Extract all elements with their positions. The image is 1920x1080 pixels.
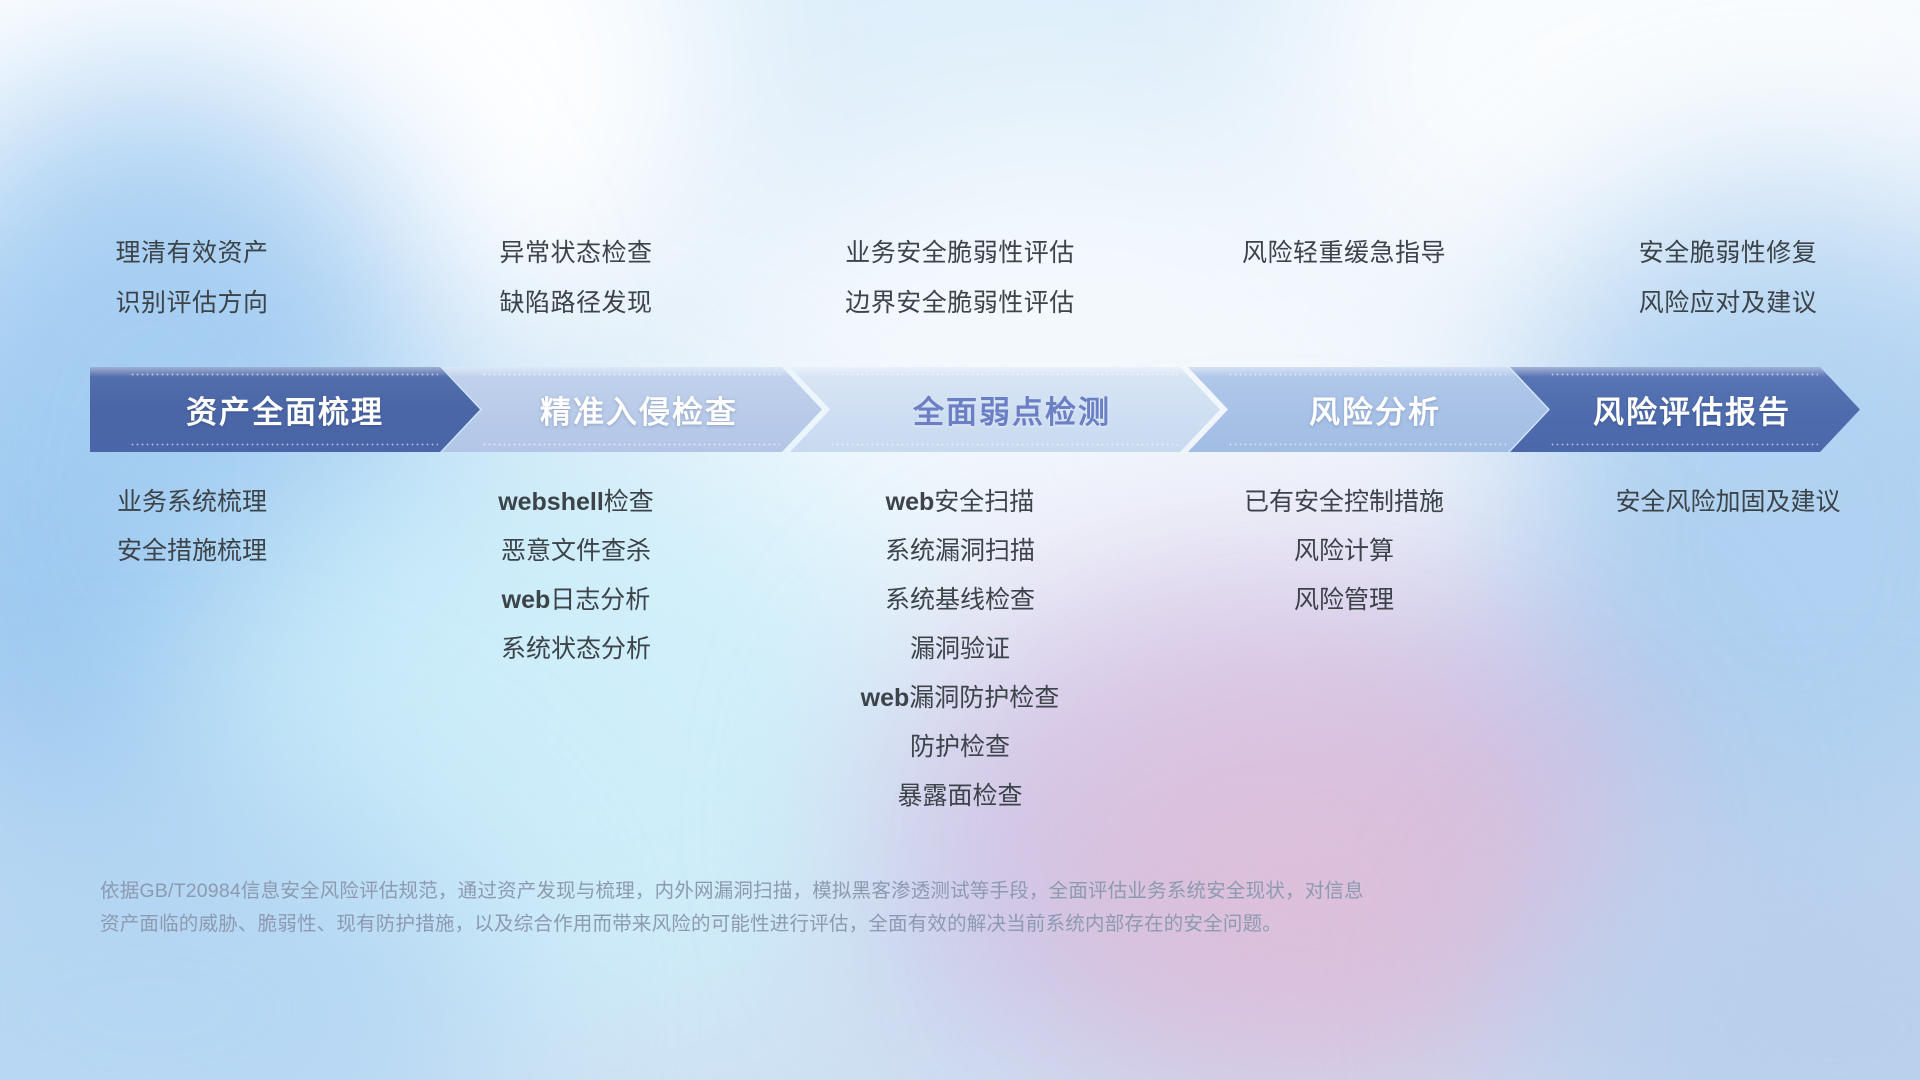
top-notes-stage-1: 理清有效资产 识别评估方向 <box>0 228 384 328</box>
process-stage-4[interactable]: 风险分析 <box>1188 367 1548 452</box>
top-note: 边界安全脆弱性评估 <box>778 278 1142 328</box>
chevron-dot-texture <box>1550 442 1818 447</box>
chevron-gloss <box>790 367 1220 377</box>
list-item: web安全扫描 <box>776 478 1144 527</box>
list-item: web漏洞防护检查 <box>776 674 1144 723</box>
process-arrow-band: 资产全面梳理 精准入侵检查 全面弱点检测 风险分析 <box>90 367 1860 452</box>
top-notes-stage-2: 异常状态检查 缺陷路径发现 <box>384 228 768 328</box>
top-notes-stage-5: 安全脆弱性修复 风险应对及建议 <box>1536 228 1920 328</box>
chevron-gloss <box>1510 367 1860 377</box>
top-notes-stage-4: 风险轻重缓急指导 <box>1152 228 1536 328</box>
process-stage-5[interactable]: 风险评估报告 <box>1510 367 1860 452</box>
detail-lists-row: 业务系统梳理 安全措施梳理 webshell检查 恶意文件查杀 web日志分析 … <box>0 478 1920 821</box>
detail-list-stage-2: webshell检查 恶意文件查杀 web日志分析 系统状态分析 <box>384 478 768 674</box>
list-item: 防护检查 <box>776 723 1144 772</box>
list-item: 漏洞验证 <box>776 625 1144 674</box>
process-stage-label: 全面弱点检测 <box>790 387 1220 432</box>
latin-run: web <box>861 684 910 712</box>
chevron-gloss <box>1188 367 1548 377</box>
detail-list-stage-4: 已有安全控制措施 风险计算 风险管理 <box>1152 478 1536 625</box>
detail-list-stage-5: 安全风险加固及建议 <box>1536 478 1920 527</box>
chevron-dot-texture <box>1550 372 1818 377</box>
latin-run: web <box>886 488 935 516</box>
list-item: 系统状态分析 <box>392 625 760 674</box>
footer-line: 依据GB/T20984信息安全风险评估规范，通过资产发现与梳理，内外网漏洞扫描，… <box>100 875 1610 908</box>
latin-run: webshell <box>498 488 604 516</box>
chevron-dot-texture <box>130 372 438 377</box>
list-item: webshell检查 <box>392 478 760 527</box>
top-notes-row: 理清有效资产 识别评估方向 异常状态检查 缺陷路径发现 业务安全脆弱性评估 边界… <box>0 228 1920 328</box>
footer-line: 资产面临的威胁、脆弱性、现有防护措施，以及综合作用而带来风险的可能性进行评估，全… <box>100 908 1610 941</box>
top-note: 理清有效资产 <box>10 228 374 278</box>
top-note: 业务安全脆弱性评估 <box>778 228 1142 278</box>
top-notes-stage-3: 业务安全脆弱性评估 边界安全脆弱性评估 <box>768 228 1152 328</box>
list-item: 风险管理 <box>1160 576 1528 625</box>
process-stage-label: 风险评估报告 <box>1510 387 1860 432</box>
chevron-dot-texture <box>130 442 438 447</box>
list-item: 系统漏洞扫描 <box>776 527 1144 576</box>
top-note: 安全脆弱性修复 <box>1546 228 1910 278</box>
process-stage-label: 精准入侵检查 <box>442 387 822 432</box>
list-item: web日志分析 <box>392 576 760 625</box>
latin-run: web <box>502 586 551 614</box>
detail-list-stage-3: web安全扫描 系统漏洞扫描 系统基线检查 漏洞验证 web漏洞防护检查 防护检… <box>768 478 1152 821</box>
top-note: 异常状态检查 <box>394 228 758 278</box>
top-note: 风险应对及建议 <box>1546 278 1910 328</box>
detail-list-stage-1: 业务系统梳理 安全措施梳理 <box>0 478 384 576</box>
chevron-gloss <box>442 367 822 377</box>
list-item: 安全措施梳理 <box>8 527 376 576</box>
list-item: 安全风险加固及建议 <box>1544 478 1912 527</box>
chevron-dot-texture <box>482 442 780 447</box>
chevron-dot-texture <box>830 442 1178 447</box>
list-item: 暴露面检查 <box>776 772 1144 821</box>
list-item: 系统基线检查 <box>776 576 1144 625</box>
footer-description: 依据GB/T20984信息安全风险评估规范，通过资产发现与梳理，内外网漏洞扫描，… <box>100 875 1610 941</box>
list-item: 业务系统梳理 <box>8 478 376 527</box>
process-stage-1[interactable]: 资产全面梳理 <box>90 367 480 452</box>
list-item: 恶意文件查杀 <box>392 527 760 576</box>
process-stage-label: 风险分析 <box>1188 387 1548 432</box>
process-stage-3[interactable]: 全面弱点检测 <box>790 367 1220 452</box>
chevron-dot-texture <box>830 372 1178 377</box>
chevron-dot-texture <box>1228 372 1506 377</box>
chevron-dot-texture <box>1228 442 1506 447</box>
top-note: 风险轻重缓急指导 <box>1162 228 1526 278</box>
slide-canvas: 理清有效资产 识别评估方向 异常状态检查 缺陷路径发现 业务安全脆弱性评估 边界… <box>0 0 1920 1080</box>
process-stage-2[interactable]: 精准入侵检查 <box>442 367 822 452</box>
list-item: 风险计算 <box>1160 527 1528 576</box>
list-item: 已有安全控制措施 <box>1160 478 1528 527</box>
chevron-dot-texture <box>482 372 780 377</box>
top-note: 缺陷路径发现 <box>394 278 758 328</box>
process-stage-label: 资产全面梳理 <box>90 387 480 432</box>
top-note: 识别评估方向 <box>10 278 374 328</box>
chevron-gloss <box>90 367 480 377</box>
